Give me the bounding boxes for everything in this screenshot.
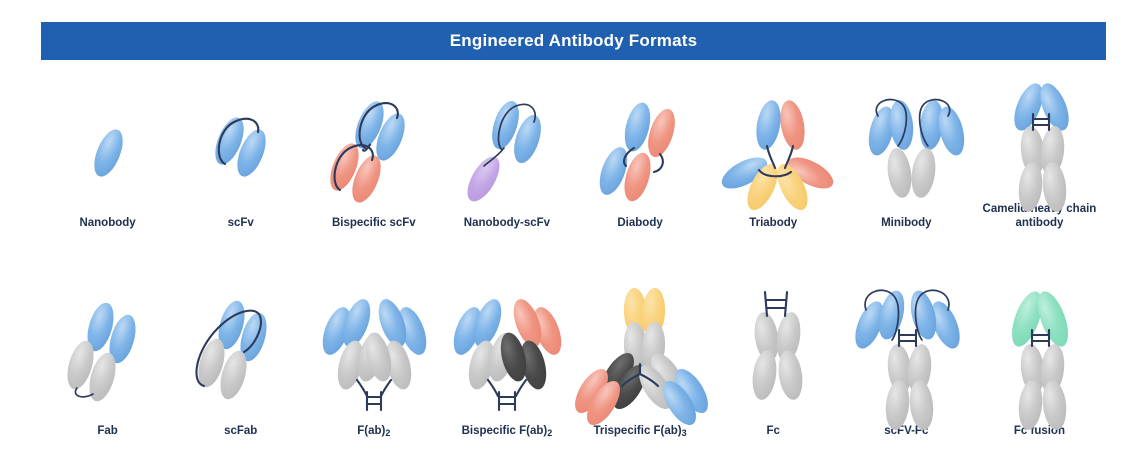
- panel-label: Triabody: [713, 216, 833, 230]
- panel-fc-fusion: Fc fusion: [973, 248, 1106, 438]
- panel-label-base: F(ab): [357, 425, 385, 437]
- panel-bispecific-fab2: Bispecific F(ab)2: [440, 248, 573, 438]
- camelid-heavy-chain-antibody-diagram: [973, 78, 1106, 196]
- fab-diagram: [41, 288, 174, 418]
- panel-label: Bispecific scFv: [314, 216, 434, 230]
- triabody-linkers: [707, 92, 840, 210]
- fab-linker: [41, 288, 174, 418]
- panel-label: Trispecific F(ab)3: [580, 424, 700, 438]
- nanobody-scfv-linker: [440, 92, 573, 210]
- panel-label-sub: 3: [682, 428, 687, 438]
- panel-label: Camelid heavy chain antibody: [979, 202, 1099, 230]
- panel-label: Bispecific F(ab)2: [447, 424, 567, 438]
- triabody-diagram: [707, 92, 840, 210]
- engineered-antibody-formats-figure: Engineered Antibody Formats Nanobody scF…: [0, 0, 1147, 456]
- panel-label-sub: 2: [385, 428, 390, 438]
- panel-fc: Fc: [707, 248, 840, 438]
- diabody-linker: [574, 92, 707, 210]
- diabody-diagram: [574, 92, 707, 210]
- panel-label: Minibody: [846, 216, 966, 230]
- trispecific-fab3-diagram: [574, 288, 707, 418]
- panel-label: Fab: [48, 424, 168, 438]
- bispecific-fab2-hinge: [440, 288, 573, 418]
- panel-label-base: Bispecific F(ab): [462, 425, 548, 437]
- fc-fusion-hinge: [973, 288, 1106, 418]
- panel-scfab: scFab: [174, 248, 307, 438]
- panel-scfv-fc: scFV-Fc: [840, 248, 973, 438]
- fab2-hinge: [307, 288, 440, 418]
- page-title: Engineered Antibody Formats: [450, 31, 698, 51]
- scfv-fc-diagram: [840, 288, 973, 418]
- bispecific-scfv-diagram: [307, 92, 440, 210]
- panel-label: Nanobody-scFv: [447, 216, 567, 230]
- panel-nanobody-scfv: Nanobody-scFv: [440, 70, 573, 230]
- scfv-diagram: [174, 92, 307, 210]
- format-row-2: Fab scFab: [41, 248, 1106, 438]
- panel-fab2: F(ab)2: [307, 248, 440, 438]
- panel-label: Diabody: [580, 216, 700, 230]
- panel-trispecific-fab3: Trispecific F(ab)3: [574, 248, 707, 438]
- fc-hinge: [707, 288, 840, 418]
- panel-label: scFab: [181, 424, 301, 438]
- scfv-linker: [174, 92, 307, 210]
- fc-diagram: [707, 288, 840, 418]
- title-banner: Engineered Antibody Formats: [41, 22, 1106, 60]
- panel-triabody: Triabody: [707, 70, 840, 230]
- nanobody-diagram: [41, 92, 174, 210]
- minibody-diagram: [840, 92, 973, 210]
- panel-diabody: Diabody: [574, 70, 707, 230]
- panel-label: scFv: [181, 216, 301, 230]
- panel-label: F(ab)2: [314, 424, 434, 438]
- panel-label: Fc: [713, 424, 833, 438]
- bispecific-fab2-diagram: [440, 288, 573, 418]
- fc-fusion-diagram: [973, 288, 1106, 418]
- scfab-linker: [174, 288, 307, 418]
- panel-camelid-heavy-chain-antibody: Camelid heavy chain antibody: [973, 70, 1106, 230]
- nanobody-scfv-diagram: [440, 92, 573, 210]
- panel-label-sub: 2: [547, 428, 552, 438]
- trispecific-fab3-hinge: [574, 288, 707, 418]
- scfv-fc-linkers: [840, 288, 973, 418]
- camelid-hinge: [973, 78, 1106, 196]
- panel-bispecific-scfv: Bispecific scFv: [307, 70, 440, 230]
- panel-label: Nanobody: [48, 216, 168, 230]
- scfab-diagram: [174, 288, 307, 418]
- panel-minibody: Minibody: [840, 70, 973, 230]
- panel-label: Fc fusion: [979, 424, 1099, 438]
- panel-nanobody: Nanobody: [41, 70, 174, 230]
- format-row-1: Nanobody scFv: [41, 70, 1106, 230]
- panel-label: scFV-Fc: [846, 424, 966, 438]
- bispecific-scfv-linker: [307, 92, 440, 210]
- fab2-diagram: [307, 288, 440, 418]
- panel-label-base: Trispecific F(ab): [593, 425, 681, 437]
- panel-scfv: scFv: [174, 70, 307, 230]
- minibody-linkers: [840, 92, 973, 210]
- panel-fab: Fab: [41, 248, 174, 438]
